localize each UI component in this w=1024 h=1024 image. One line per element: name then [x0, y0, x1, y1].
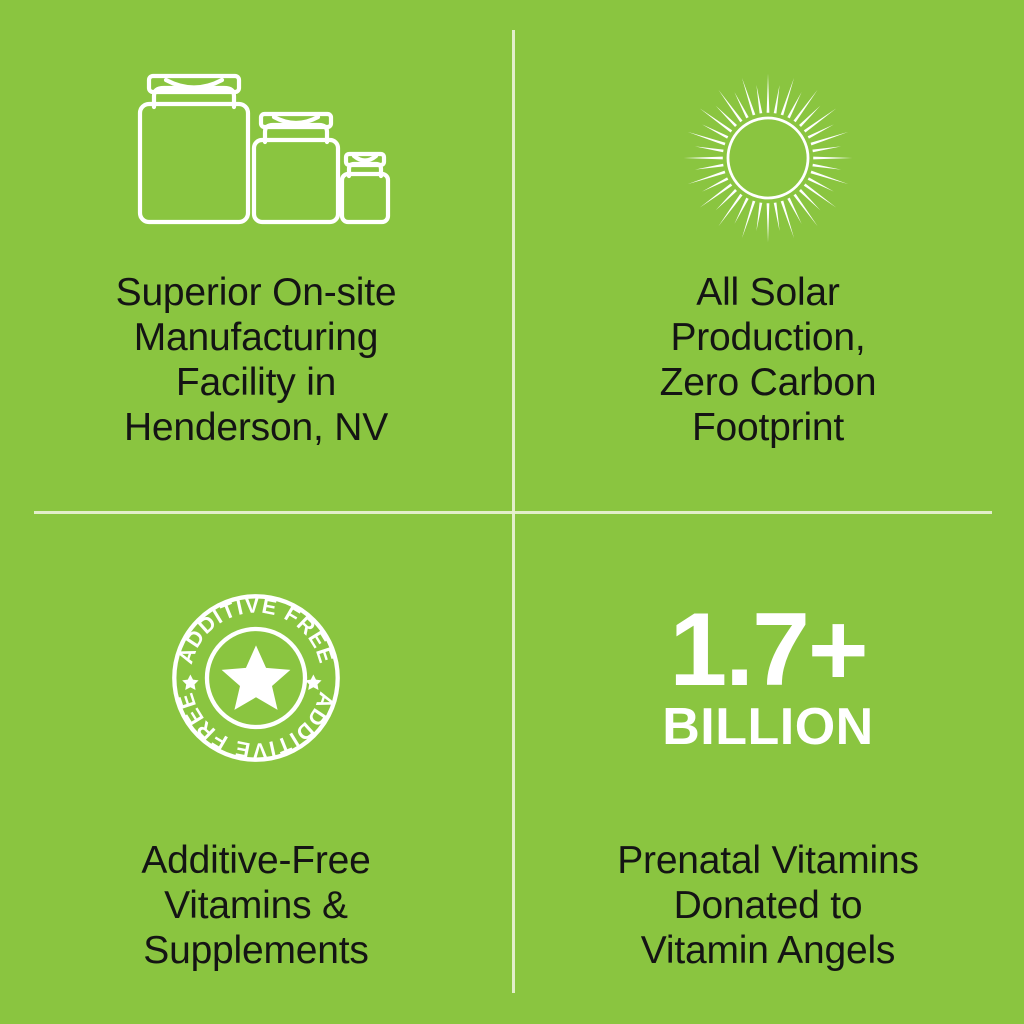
divider-horizontal — [34, 511, 992, 514]
sun-ray — [799, 106, 820, 127]
quadrant-manufacturing: Superior On-site Manufacturing Facility … — [0, 0, 512, 512]
stat-unit: BILLION — [662, 700, 873, 754]
badge-side-star-icon-2 — [305, 675, 321, 690]
stat-number: 1.7+ BILLION — [662, 592, 873, 764]
sun-ray — [756, 202, 762, 231]
quadrant-donation: 1.7+ BILLION Prenatal Vitamins Donated t… — [512, 512, 1024, 1024]
supplement-bottles-icon — [126, 72, 386, 244]
badge-center-star-icon — [222, 645, 291, 710]
sun-ray — [793, 194, 817, 226]
sun-ray — [767, 203, 770, 242]
sun-ray — [774, 202, 780, 231]
quadrant-solar: All Solar Production, Zero Carbon Footpr… — [512, 0, 1024, 512]
sun-ray — [812, 164, 841, 170]
additive-free-badge-icon: ADDITIVE FREE ADDITIVE FREE — [170, 592, 342, 764]
brand-values-infographic: Superior On-site Manufacturing Facility … — [0, 0, 1024, 1024]
sun-ray — [774, 85, 780, 114]
sun-ray — [799, 189, 820, 210]
sun-ray — [716, 189, 737, 210]
sun-ray — [767, 74, 770, 113]
badge-side-star-icon — [182, 675, 198, 690]
quadrant-caption: Prenatal Vitamins Donated to Vitamin Ang… — [617, 838, 919, 973]
sun-ray — [718, 90, 742, 122]
sun-ray — [718, 194, 742, 226]
quadrant-additive-free: ADDITIVE FREE ADDITIVE FREE Ad — [0, 512, 512, 1024]
sun-ray — [756, 85, 762, 114]
sun-ray — [804, 108, 836, 132]
sun-icon — [681, 72, 855, 244]
sun-ray — [684, 157, 723, 160]
sun-ray — [700, 183, 732, 207]
stat-value: 1.7+ — [669, 602, 866, 698]
sun-ray — [695, 146, 724, 152]
quadrant-caption: Superior On-site Manufacturing Facility … — [116, 270, 397, 450]
sun-ray — [695, 164, 724, 170]
quadrant-caption: All Solar Production, Zero Carbon Footpr… — [660, 270, 877, 450]
quadrant-caption: Additive-Free Vitamins & Supplements — [141, 838, 370, 973]
sun-ray — [716, 106, 737, 127]
sun-ray — [812, 146, 841, 152]
sun-ray — [700, 108, 732, 132]
sun-ray — [804, 183, 836, 207]
sun-ray — [813, 157, 852, 160]
sun-ray — [793, 90, 817, 122]
